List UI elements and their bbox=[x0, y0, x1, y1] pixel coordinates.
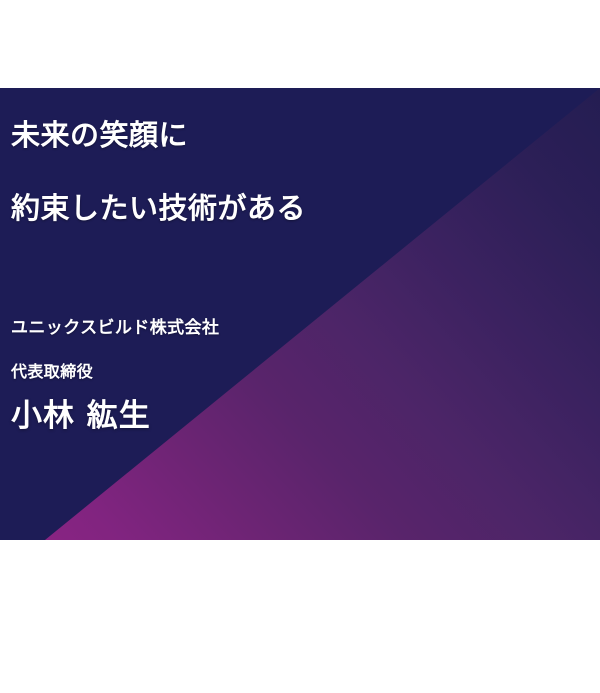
hero-content: 未来の笑顔に 約束したい技術がある ユニックスビルド株式会社 代表取締役 小林 … bbox=[0, 88, 600, 540]
hero-band: 未来の笑顔に 約束したい技術がある ユニックスビルド株式会社 代表取締役 小林 … bbox=[0, 88, 600, 540]
banner-page: 未来の笑顔に 約束したい技術がある ユニックスビルド株式会社 代表取締役 小林 … bbox=[0, 0, 600, 693]
headline-line-1: 未来の笑顔に bbox=[11, 120, 188, 152]
headline-line-2: 約束したい技術がある bbox=[11, 193, 306, 225]
person-name: 小林 紘生 bbox=[11, 390, 151, 435]
company-name: ユニックスビルド株式会社 bbox=[11, 313, 219, 338]
person-role: 代表取締役 bbox=[11, 358, 93, 382]
